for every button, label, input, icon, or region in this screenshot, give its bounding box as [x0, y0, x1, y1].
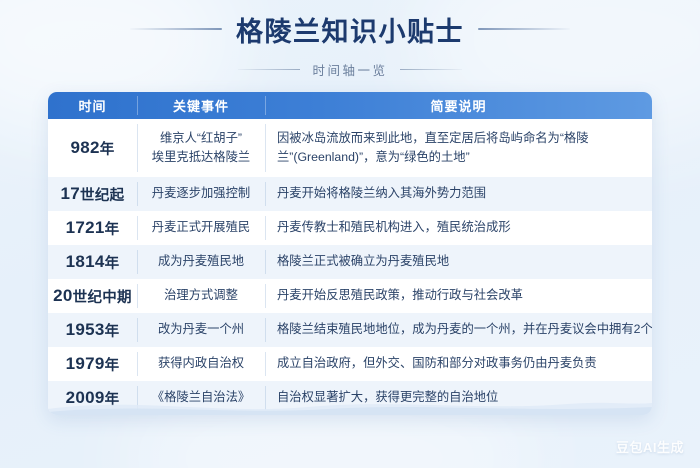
cell-event: 获得内政自治权 [137, 347, 265, 381]
watermark-label: 豆包AI生成 [616, 437, 684, 456]
table-row: 17世纪起丹麦逐步加强控制丹麦开始将格陵兰纳入其海外势力范围 [48, 177, 652, 211]
cell-description: 格陵兰正式被确立为丹麦殖民地 [265, 245, 652, 279]
cell-time-number: 1979 [66, 354, 105, 374]
cell-time: 20世纪中期 [48, 279, 137, 313]
cell-description: 丹麦开始将格陵兰纳入其海外势力范围 [265, 177, 652, 211]
cell-time-suffix: 世纪中期 [73, 286, 132, 307]
subtitle-row: 时间轴一览 [238, 60, 461, 79]
table-row: 982年维京人“红胡子”埃里克抵达格陵兰因被冰岛流放而来到此地，直至定居后将岛屿… [48, 119, 652, 177]
cell-time: 2009年 [48, 381, 137, 415]
cell-event: 治理方式调整 [137, 279, 265, 313]
cell-description: 成立自治政府，但外交、国防和部分对政事务仍由丹麦负责 [265, 347, 652, 381]
cell-time-number: 1953 [66, 320, 105, 340]
subtitle-rule-right [400, 69, 462, 70]
cell-event: 维京人“红胡子”埃里克抵达格陵兰 [137, 119, 265, 177]
cell-time-suffix: 年 [105, 388, 120, 409]
cell-description: 自治权显著扩大，获得更完整的自治地位 [265, 381, 652, 415]
table-header-row: 时间 关键事件 简要说明 [48, 92, 652, 119]
cell-time-suffix: 世纪起 [80, 184, 124, 205]
subtitle-rule-left [238, 69, 300, 70]
page-header: 格陵兰知识小贴士 时间轴一览 [0, 0, 700, 88]
table-row: 2009年《格陵兰自治法》自治权显著扩大，获得更完整的自治地位 [48, 381, 652, 415]
title-rule-left [130, 28, 222, 30]
table-row: 1721年丹麦正式开展殖民丹麦传教士和殖民机构进入，殖民统治成形 [48, 211, 652, 245]
cell-time-suffix: 年 [105, 252, 120, 273]
cell-description: 丹麦传教士和殖民机构进入，殖民统治成形 [265, 211, 652, 245]
cell-time: 982年 [48, 119, 137, 177]
cell-time: 1979年 [48, 347, 137, 381]
page-title: 格陵兰知识小贴士 [236, 10, 464, 49]
cell-time: 17世纪起 [48, 177, 137, 211]
table-row: 1979年获得内政自治权成立自治政府，但外交、国防和部分对政事务仍由丹麦负责 [48, 347, 652, 381]
cell-time-suffix: 年 [105, 218, 120, 239]
cell-description: 丹麦开始反思殖民政策，推动行政与社会改革 [265, 279, 652, 313]
cell-time-number: 1814 [66, 252, 105, 272]
table-row: 20世纪中期治理方式调整丹麦开始反思殖民政策，推动行政与社会改革 [48, 279, 652, 313]
column-header-event: 关键事件 [137, 92, 265, 119]
timeline-table: 时间 关键事件 简要说明 982年维京人“红胡子”埃里克抵达格陵兰因被冰岛流放而… [48, 92, 652, 415]
cell-time: 1721年 [48, 211, 137, 245]
cell-time-number: 17 [61, 184, 81, 204]
cell-event: 成为丹麦殖民地 [137, 245, 265, 279]
cell-event: 《格陵兰自治法》 [137, 381, 265, 415]
cell-time-suffix: 年 [105, 354, 120, 375]
cell-description: 因被冰岛流放而来到此地，直至定居后将岛屿命名为“格陵兰”(Greenland)”… [265, 119, 652, 177]
title-rule-right [478, 28, 570, 30]
cell-time: 1814年 [48, 245, 137, 279]
cell-time-number: 2009 [66, 388, 105, 408]
table-row: 1814年成为丹麦殖民地格陵兰正式被确立为丹麦殖民地 [48, 245, 652, 279]
cell-event: 丹麦正式开展殖民 [137, 211, 265, 245]
table-body: 982年维京人“红胡子”埃里克抵达格陵兰因被冰岛流放而来到此地，直至定居后将岛屿… [48, 119, 652, 415]
cell-time: 1953年 [48, 313, 137, 347]
title-row: 格陵兰知识小贴士 [130, 10, 570, 49]
table-row: 1953年改为丹麦一个州格陵兰结束殖民地地位，成为丹麦的一个州，并在丹麦议会中拥… [48, 313, 652, 347]
cell-time-number: 20 [53, 286, 73, 306]
page-subtitle: 时间轴一览 [312, 60, 387, 79]
cell-time-number: 982 [70, 138, 99, 158]
cell-event: 改为丹麦一个州 [137, 313, 265, 347]
cell-description: 格陵兰结束殖民地地位，成为丹麦的一个州，并在丹麦议会中拥有2个席位 [265, 313, 652, 347]
cell-event: 丹麦逐步加强控制 [137, 177, 265, 211]
column-header-description: 简要说明 [265, 92, 652, 119]
cell-time-suffix: 年 [100, 138, 115, 159]
cell-time-suffix: 年 [105, 320, 120, 341]
column-header-time: 时间 [48, 92, 137, 119]
cell-time-number: 1721 [66, 218, 105, 238]
